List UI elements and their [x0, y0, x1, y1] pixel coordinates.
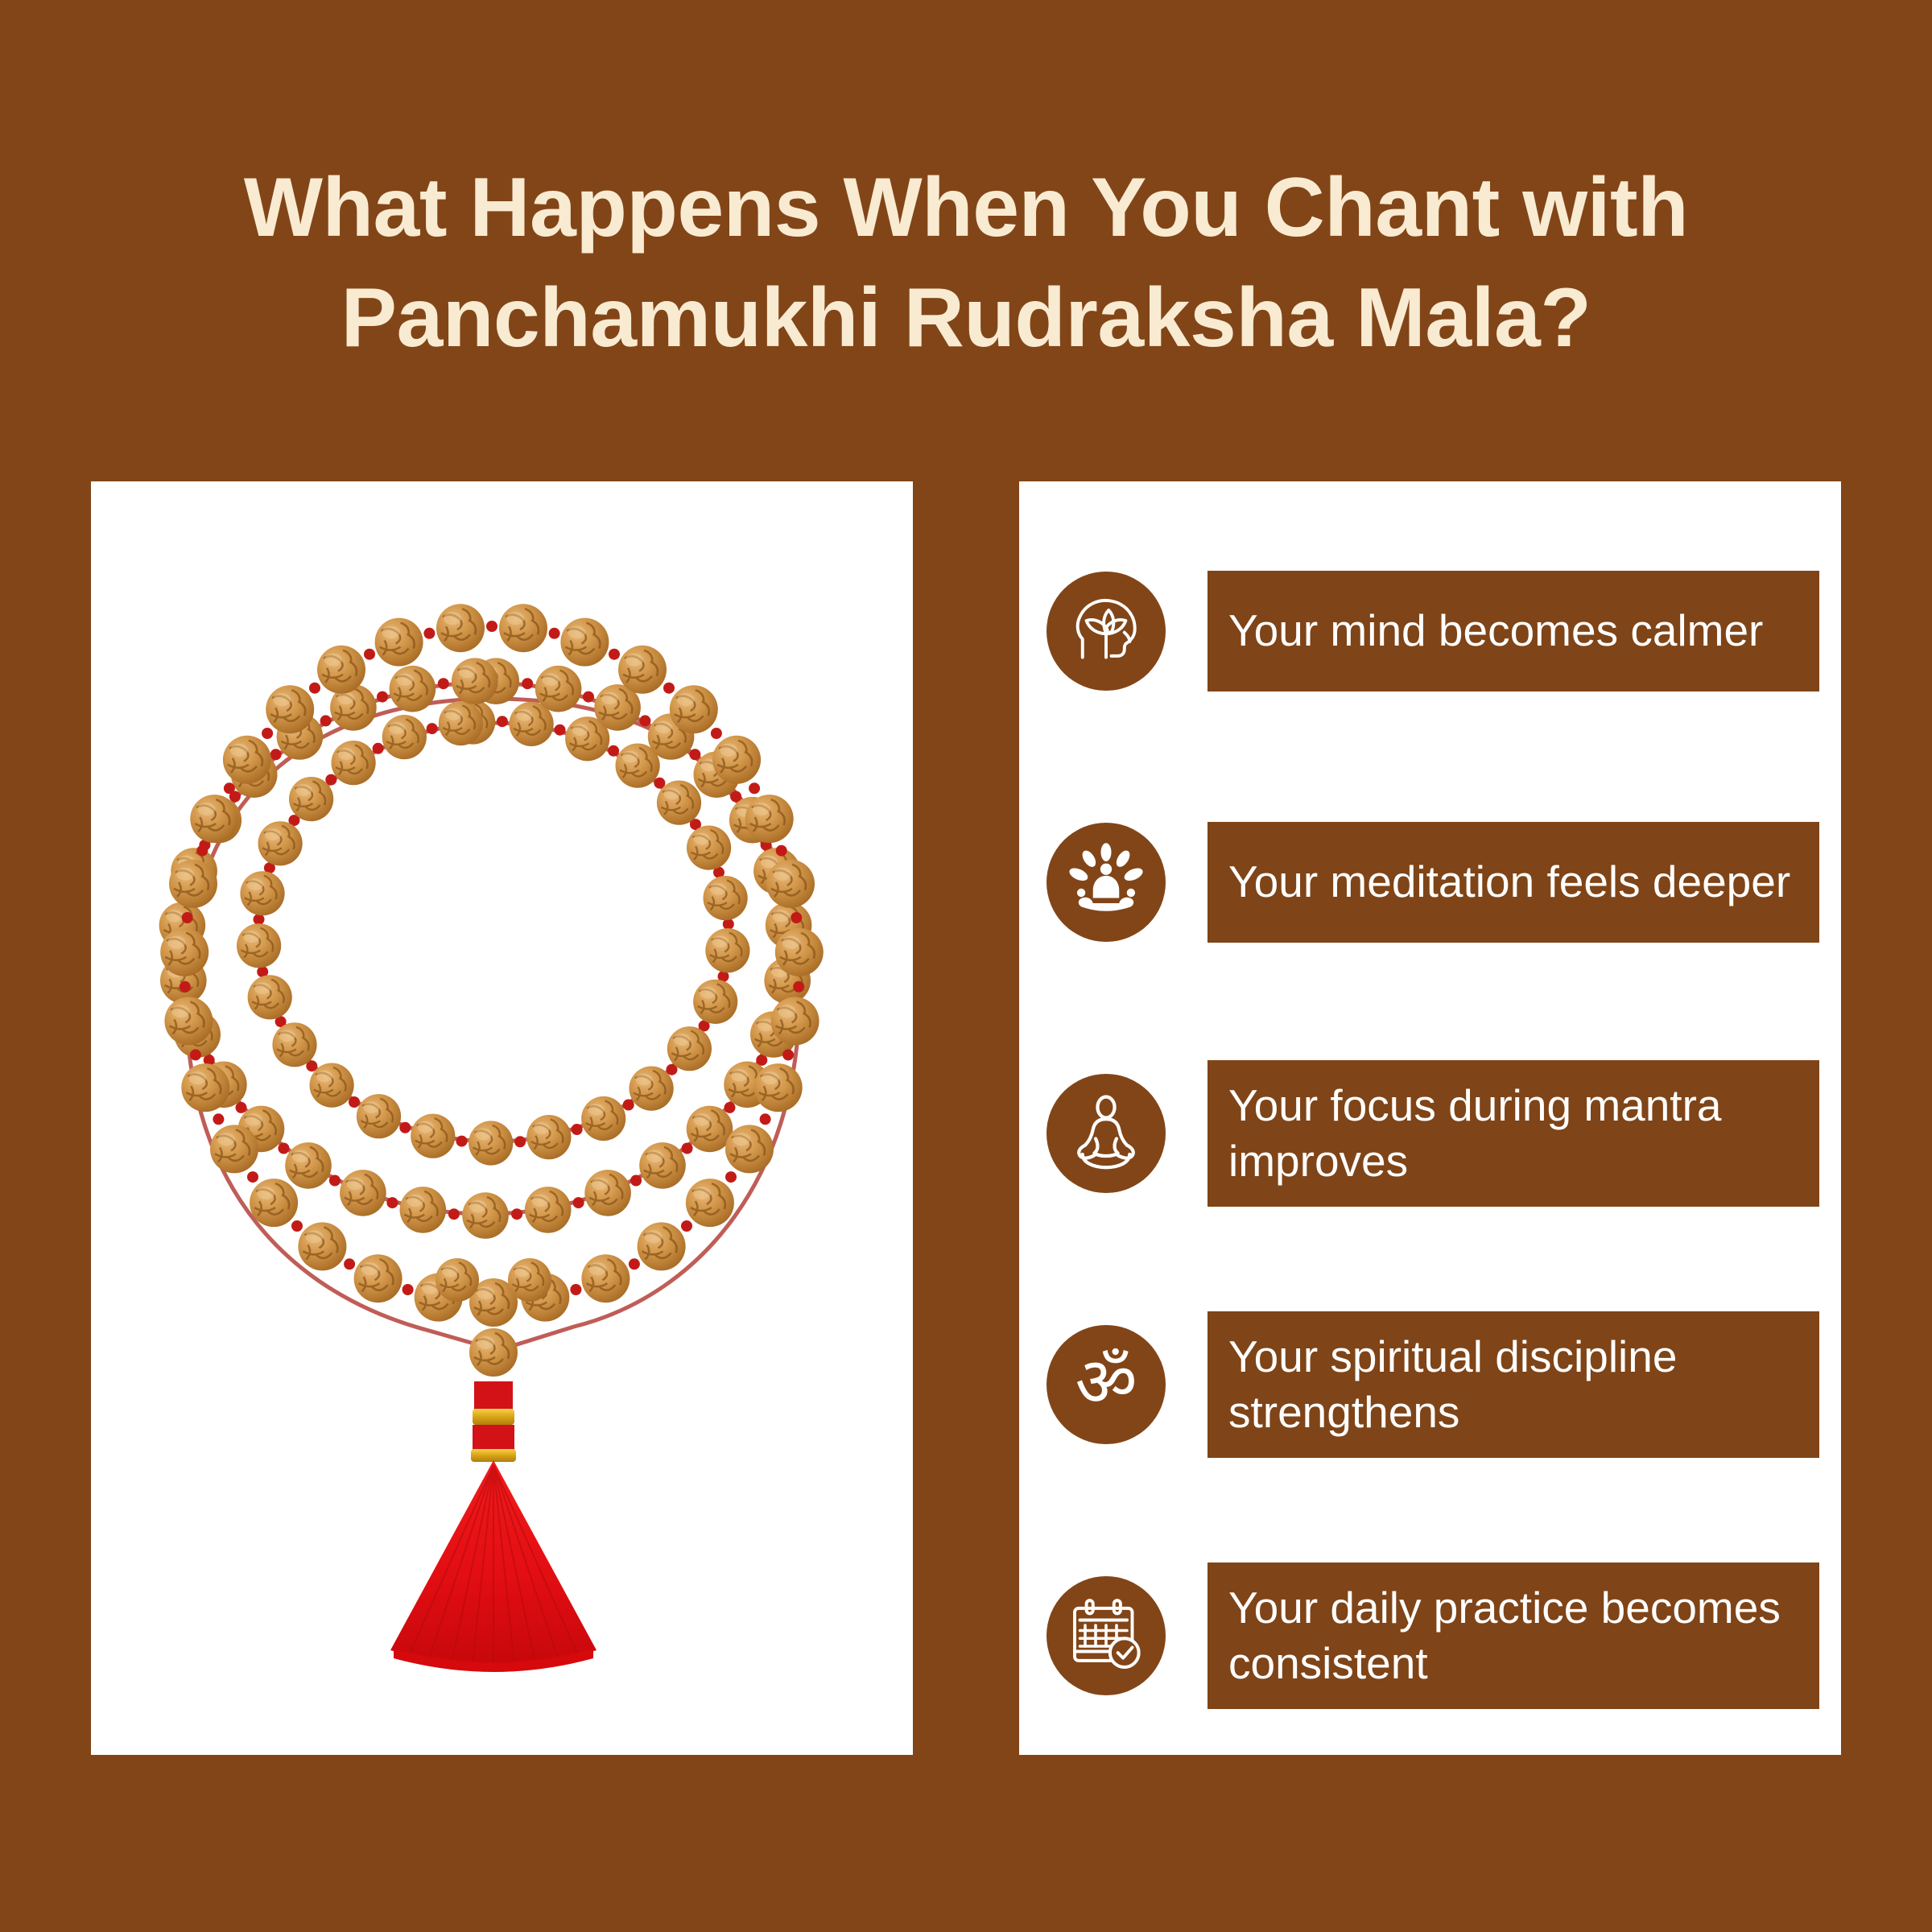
benefit-label-mind-calmer: Your mind becomes calmer: [1207, 571, 1819, 691]
page-title: What Happens When You Chant with Pancham…: [0, 153, 1932, 374]
head-with-lotus-icon: [1046, 572, 1166, 691]
svg-text:ॐ: ॐ: [1075, 1343, 1137, 1422]
benefit-item-practice-consistent[interactable]: Your daily practice becomes consistent: [1046, 1565, 1819, 1707]
benefit-label-practice-consistent: Your daily practice becomes consistent: [1207, 1563, 1819, 1710]
benefit-item-meditation-deeper[interactable]: Your meditation feels deeper: [1046, 811, 1819, 953]
page-title-line-2: Panchamukhi Rudraksha Mala?: [121, 263, 1811, 374]
benefit-item-mind-calmer[interactable]: Your mind becomes calmer: [1046, 560, 1819, 702]
page-title-line-1: What Happens When You Chant with: [121, 153, 1811, 263]
benefit-item-discipline-strengthens[interactable]: ॐ Your spiritual discipline strengthens: [1046, 1314, 1819, 1455]
benefit-label-meditation-deeper: Your meditation feels deeper: [1207, 822, 1819, 943]
benefit-label-discipline-strengthens: Your spiritual discipline strengthens: [1207, 1311, 1819, 1459]
product-image-card: [91, 481, 913, 1755]
benefit-item-focus-improves[interactable]: Your focus during mantra improves: [1046, 1063, 1819, 1204]
meditating-figure-with-leaves-icon: [1046, 823, 1166, 942]
lotus-pose-figure-icon: [1046, 1074, 1166, 1193]
benefits-card: Your mind becomes calmer Your meditation…: [1019, 481, 1841, 1755]
calendar-check-icon: [1046, 1576, 1166, 1695]
rudraksha-mala-image: [91, 481, 913, 1755]
benefit-label-focus-improves: Your focus during mantra improves: [1207, 1060, 1819, 1207]
om-symbol-icon: ॐ: [1046, 1325, 1166, 1444]
